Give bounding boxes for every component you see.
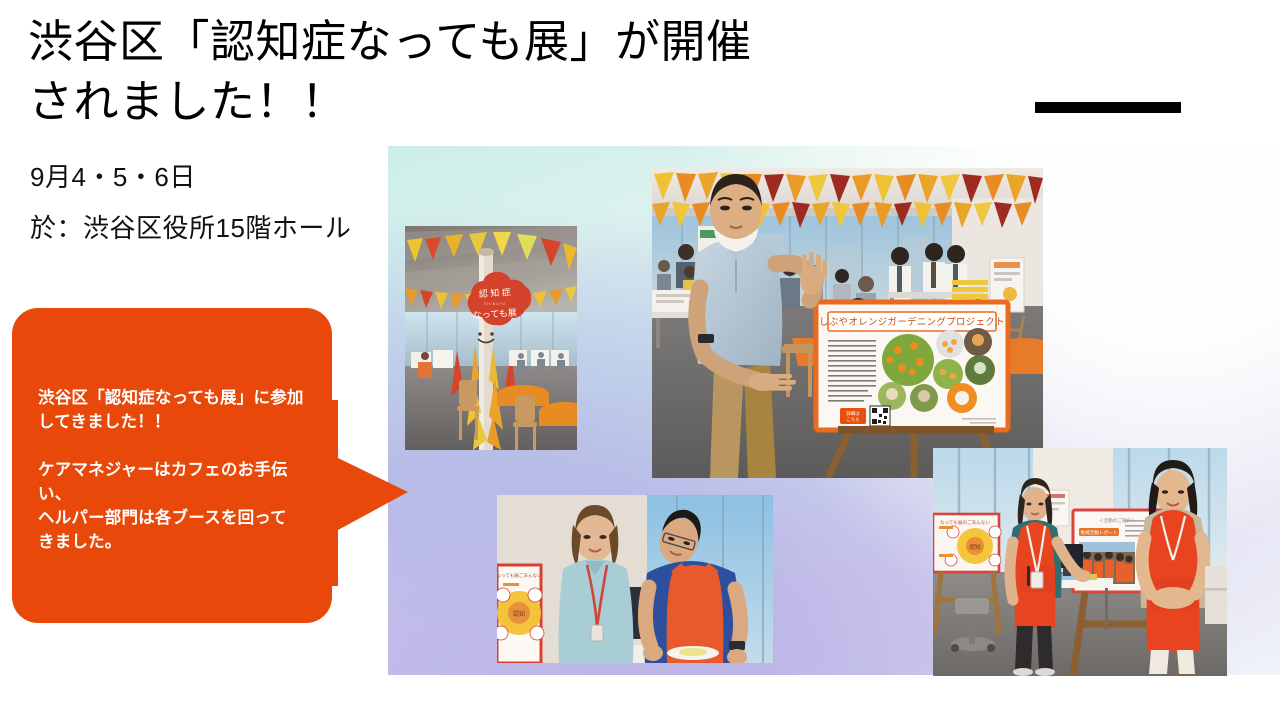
photo-entrance-sign: 認 知 症 SHIBUYA なっても展: [405, 226, 577, 450]
photo-apron-staff-panel: なっても展のごあんない 認知 ＜活動のご紹介＞ 地域活動レポート: [933, 448, 1227, 676]
callout-bubble: 渋谷区「認知症なっても展」に参加 してきました！！ケアマネジャーはカフェのお手伝…: [12, 308, 402, 623]
callout-paragraph-1: 渋谷区「認知症なっても展」に参加 してきました！！: [38, 389, 304, 431]
page-title: 渋谷区「認知症なっても展」が開催 されました！！: [28, 12, 888, 132]
svg-text:認 知 症: 認 知 症: [478, 286, 511, 299]
accent-bar: [1035, 102, 1181, 113]
slide-canvas: 渋谷区「認知症なっても展」が開催 されました！！ 9月4・5・6日 於：渋谷区役…: [0, 0, 1280, 720]
svg-text:地域活動レポート: 地域活動レポート: [1081, 529, 1118, 536]
svg-text:なっても展ごあんない: なっても展ごあんない: [497, 572, 542, 579]
svg-text:しぶやオレンジガーデニングプロジェクト: しぶやオレンジガーデニングプロジェクト: [819, 316, 1005, 327]
photo-cafe-staff-pair: なっても展ごあんない 認知: [497, 495, 773, 663]
svg-text:認知: 認知: [513, 610, 525, 618]
svg-text:認知: 認知: [969, 543, 981, 551]
callout-bubble-tail: [312, 400, 412, 586]
svg-text:なっても展のごあんない: なっても展のごあんない: [940, 519, 990, 526]
photo-poster-presenter: 示教 友示: [652, 168, 1043, 478]
callout-paragraph-2: ケアマネジャーはカフェのお手伝い、 ヘルパー部門は各ブースを回って きました。: [38, 458, 310, 554]
svg-text:詳細は: 詳細は: [846, 410, 860, 417]
callout-text: 渋谷区「認知症なっても展」に参加 してきました！！ケアマネジャーはカフェのお手伝…: [38, 386, 310, 554]
svg-text:SHIBUYA: SHIBUYA: [484, 302, 507, 306]
event-venue: 於：渋谷区役所15階ホール: [30, 208, 351, 245]
event-date: 9月4・5・6日: [30, 157, 196, 194]
